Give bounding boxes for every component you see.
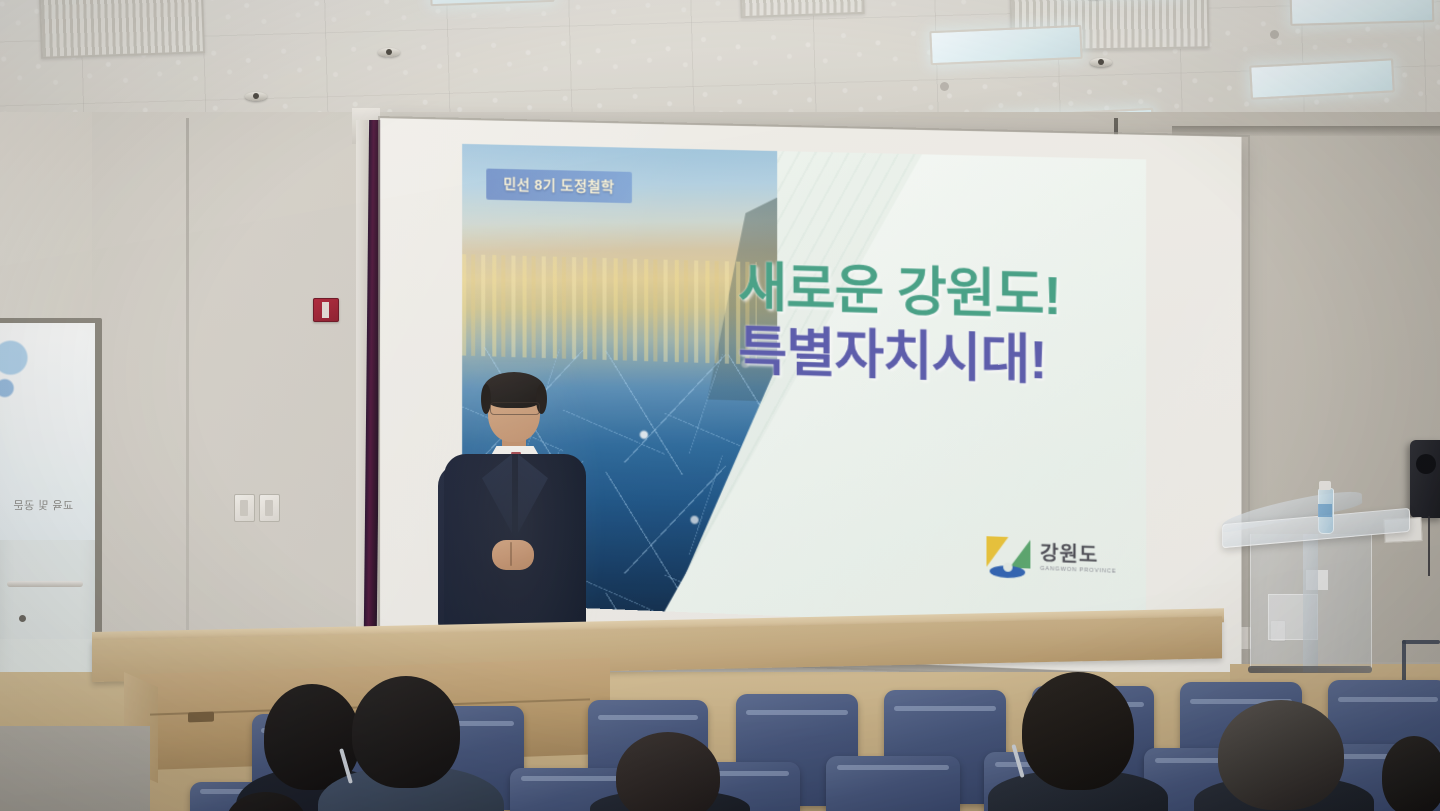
presenter-hands	[492, 540, 534, 570]
slide-title-line1: 새로운 강원도!	[738, 262, 1144, 327]
light-switch[interactable]	[259, 494, 280, 522]
ceiling-fixture-dot	[1270, 30, 1279, 39]
chair-frame	[1402, 640, 1440, 644]
presentation-room-photo: 교육 및 공문 민선 8기 도정철학 새로운 강원도! 특별	[0, 0, 1440, 811]
logo-blue-oval	[990, 565, 1026, 579]
podium-stem	[1303, 534, 1318, 672]
door-lock-icon	[19, 615, 26, 622]
slide-title-block: 새로운 강원도! 특별자치시대!	[738, 262, 1144, 392]
ceiling-vent	[39, 0, 205, 59]
bottle-label	[1318, 504, 1332, 517]
door-push-bar[interactable]	[7, 581, 83, 587]
sprinkler-head	[378, 48, 400, 57]
presenter-glasses-icon	[490, 402, 540, 415]
podium-base	[1248, 666, 1372, 673]
stage-cable-port	[188, 712, 214, 723]
bottle-cap	[1319, 481, 1331, 490]
audience-seat[interactable]	[826, 756, 960, 811]
light-switch[interactable]	[234, 494, 255, 522]
ceiling-light	[929, 25, 1082, 65]
wall-speaker-icon	[1410, 440, 1440, 518]
slide-title-line2: 특별자치시대!	[738, 325, 1144, 391]
wall-soffit-shadow	[1172, 126, 1440, 136]
audience-person-head	[1382, 736, 1440, 811]
sprinkler-head	[1090, 58, 1112, 67]
audience-person-head	[352, 676, 460, 788]
logo-green-triangle	[1010, 539, 1031, 568]
wall-seam	[186, 118, 189, 663]
sprinkler-head	[245, 92, 267, 101]
fire-alarm-icon[interactable]	[313, 298, 339, 322]
audience-person-head	[1218, 700, 1344, 810]
logo-english-label: GANGWON PROVINCE	[1040, 567, 1116, 576]
gangwon-logo-icon	[987, 536, 1031, 579]
door-sign-text: 교육 및 공문	[0, 499, 91, 514]
presenter-hand-crease	[510, 542, 512, 566]
logo-text-block: 강원도 GANGWON PROVINCE	[1040, 544, 1116, 575]
slide-badge: 민선 8기 도정철학	[486, 169, 631, 204]
ceiling-fixture-dot	[940, 82, 949, 91]
ceiling-light	[1290, 0, 1435, 26]
slide-badge-label: 민선 8기 도정철학	[503, 174, 614, 197]
speaker-cable	[1428, 516, 1430, 576]
floor-left-carpet	[0, 726, 150, 811]
gangwon-logo: 강원도 GANGWON PROVINCE	[987, 536, 1117, 582]
audience-person-head	[1022, 672, 1134, 790]
logo-korean-label: 강원도	[1040, 544, 1116, 567]
